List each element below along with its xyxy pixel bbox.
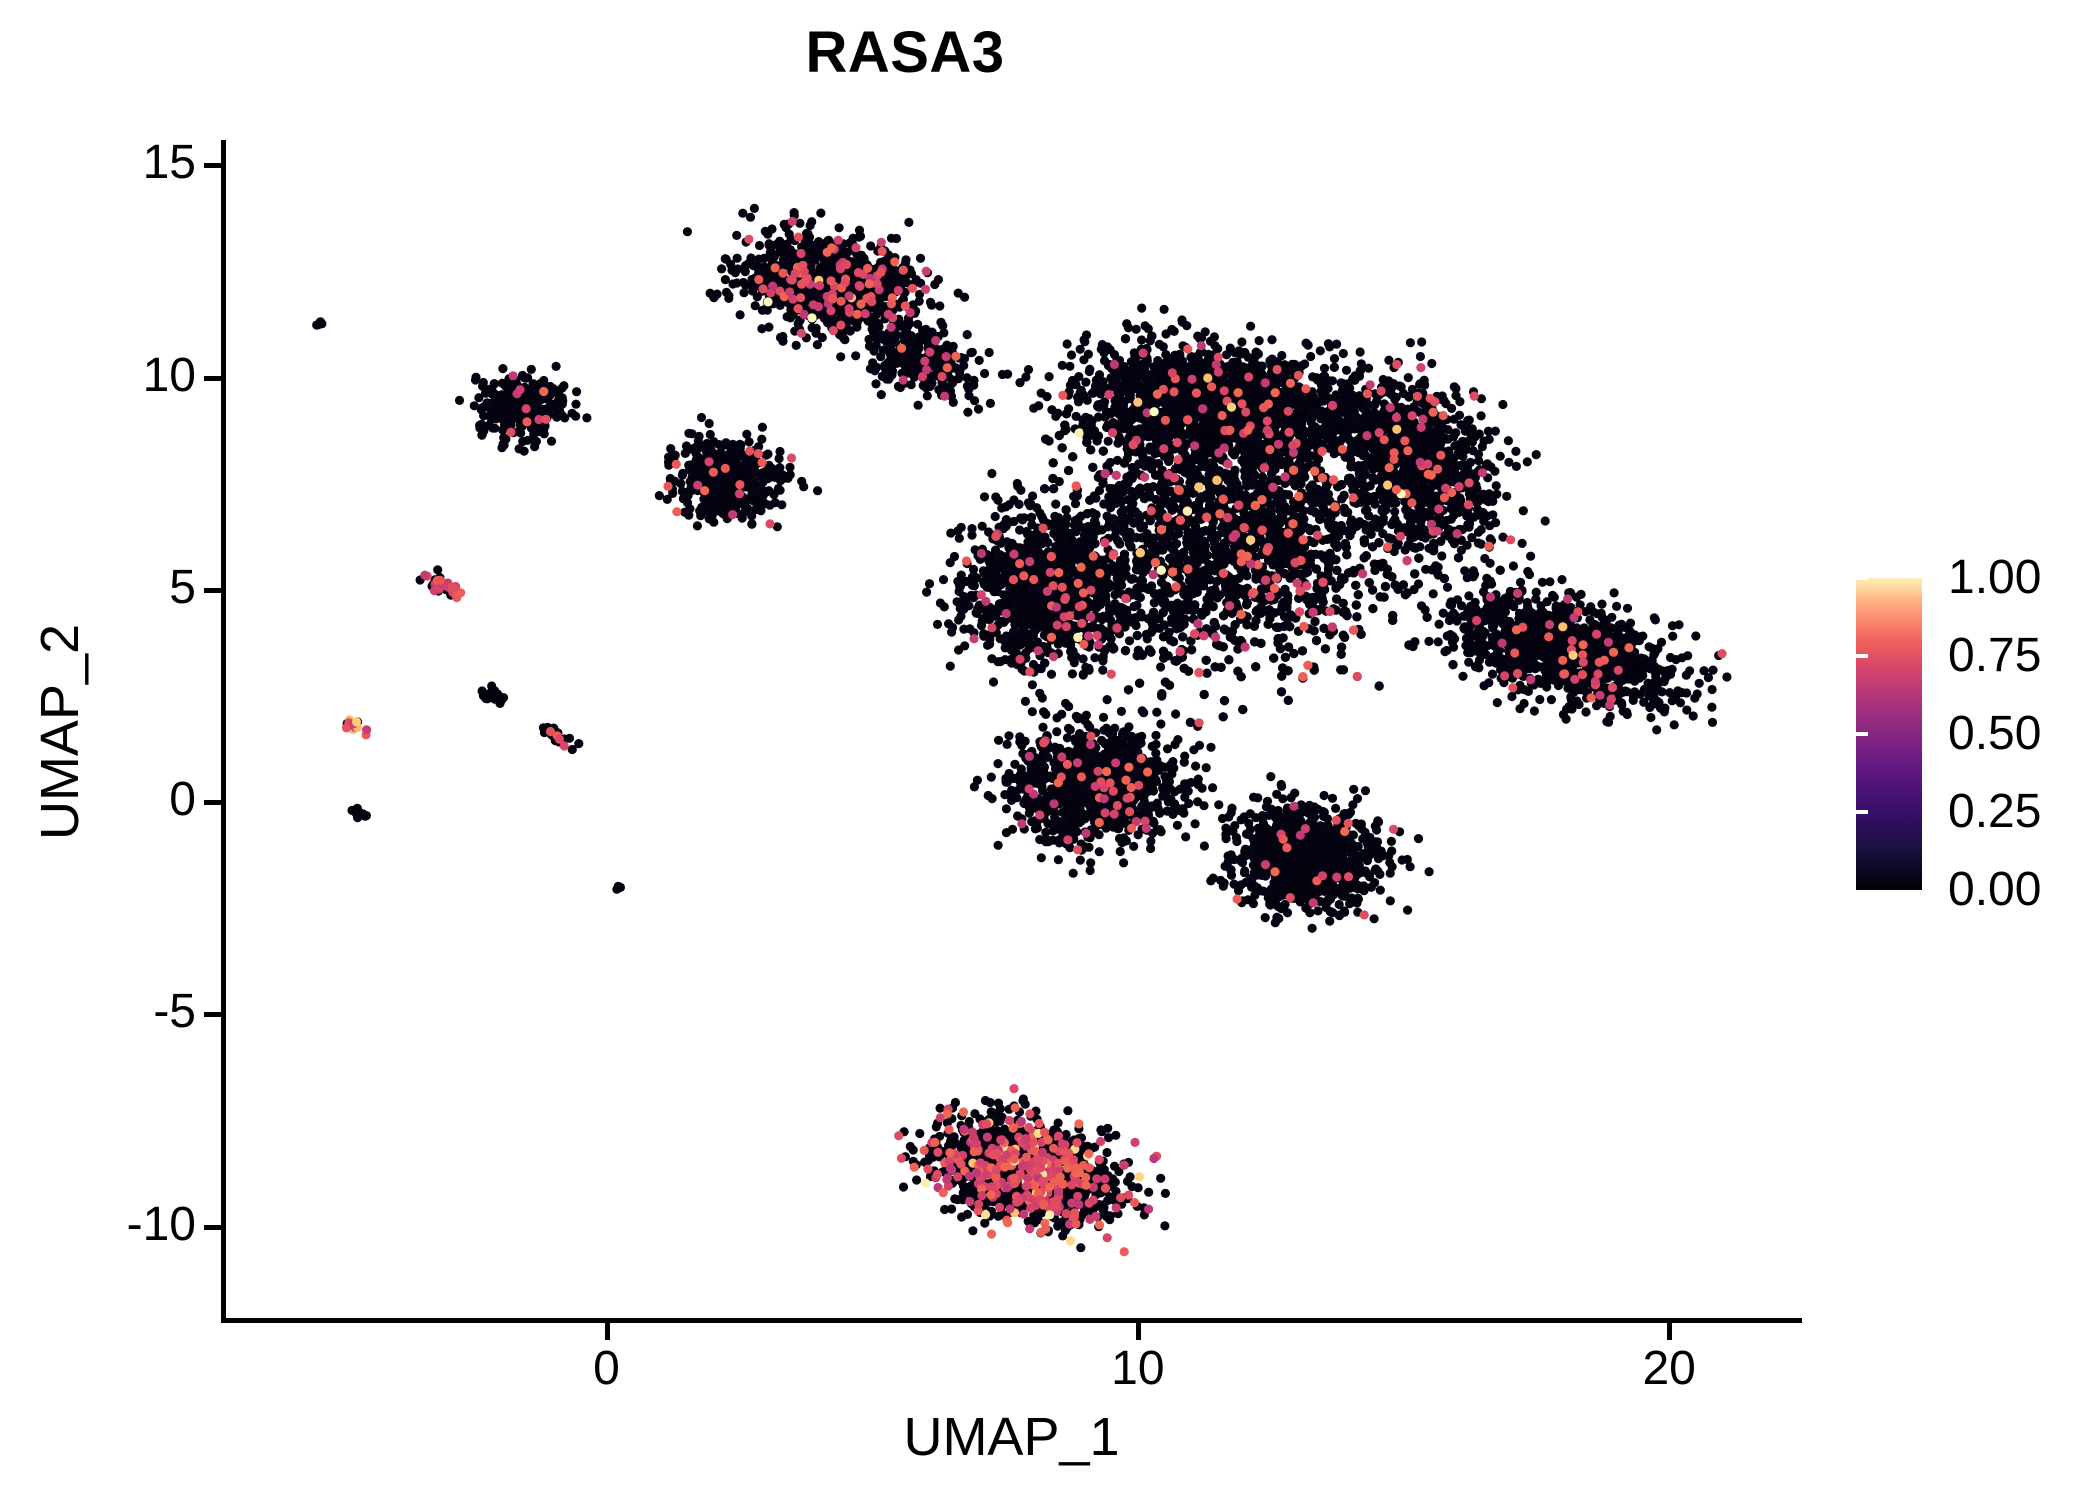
x-tick-mark (1667, 1323, 1672, 1340)
page-title: RASA3 (0, 24, 1810, 82)
colorbar-tick-mark (2074, 654, 2086, 658)
colorbar-tick-label: 0.75 (1948, 632, 2041, 680)
colorbar-tick-mark (1856, 732, 1868, 736)
y-axis-title: UMAP_2 (33, 142, 87, 1322)
x-tick-mark (1136, 1323, 1141, 1340)
y-axis-line (221, 140, 226, 1322)
colorbar-tick-label: 0.00 (1948, 866, 2041, 914)
x-tick-mark (605, 1323, 610, 1340)
umap-feature-plot: RASA3 151050-5-10 01020 UMAP_1 UMAP_2 1.… (0, 0, 2100, 1500)
colorbar-tick-mark (1856, 810, 1868, 814)
colorbar-tick-label: 0.25 (1948, 788, 2041, 836)
colorbar-tick-label: 1.00 (1948, 554, 2041, 602)
colorbar-tick-mark (1856, 576, 1868, 580)
colorbar-tick-mark (1856, 654, 1868, 658)
colorbar-tick-mark (2074, 732, 2086, 736)
x-tick-label: 10 (1038, 1345, 1238, 1393)
x-axis-line (221, 1318, 1802, 1323)
colorbar-tick-label: 0.50 (1948, 710, 2041, 758)
colorbar-tick-mark (2074, 810, 2086, 814)
colorbar-tick-mark (2074, 576, 2086, 580)
plot-panel (224, 140, 1802, 1320)
x-tick-label: 20 (1569, 1345, 1769, 1393)
scatter-canvas (224, 140, 1802, 1320)
colorbar-legend: 1.000.750.500.250.00 (1856, 578, 2086, 898)
x-axis-title: UMAP_1 (221, 1410, 1802, 1464)
x-tick-label: 0 (507, 1345, 707, 1393)
